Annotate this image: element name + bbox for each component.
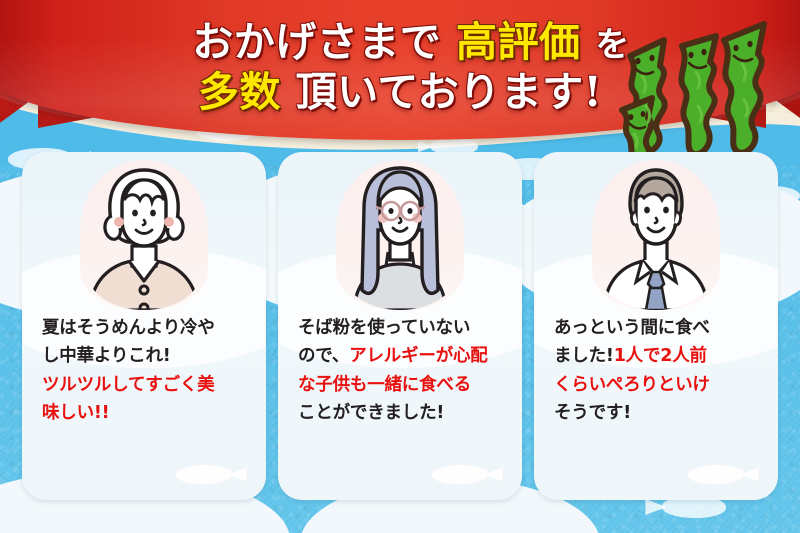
card-fish-icon xyxy=(176,465,232,484)
quote-emphasis: 1人で2人前 xyxy=(614,346,707,366)
quote-plain: ので、 xyxy=(298,346,349,366)
promo-banner: おかげさまで 高評価 を 多数 頂いております! xyxy=(0,0,800,533)
avatar xyxy=(74,160,214,310)
avatar xyxy=(330,160,470,310)
testimonial-card: そば粉を使っていない ので、アレルギーが心配 な子供も一緒に食べる ことができま… xyxy=(278,152,522,500)
quote-line: そうです! xyxy=(554,399,764,427)
avatar xyxy=(586,160,726,310)
headline-seg-yellow: 高評価 xyxy=(456,18,581,66)
quote-line-emphasis: な子供も一緒に食べる xyxy=(298,371,508,399)
testimonial-text: あっという間に食べ ました!1人で2人前 くらいぺろりといけ そうです! xyxy=(554,314,764,427)
quote-plain: ました! xyxy=(554,346,614,366)
testimonial-text: 夏はそうめんより冷や し中華よりこれ! ツルツルしてすごく美 味しい!! xyxy=(42,314,252,427)
testimonial-list: 夏はそうめんより冷や し中華よりこれ! ツルツルしてすごく美 味しい!! xyxy=(0,152,800,504)
quote-line-mixed: ました!1人で2人前 xyxy=(554,342,764,370)
seaweed-frond-right xyxy=(724,24,764,153)
quote-line-emphasis: 味しい!! xyxy=(42,399,252,427)
testimonial-text: そば粉を使っていない ので、アレルギーが心配 な子供も一緒に食べる ことができま… xyxy=(298,314,508,427)
testimonial-card: あっという間に食べ ました!1人で2人前 くらいぺろりといけ そうです! xyxy=(534,152,778,500)
card-fish-icon xyxy=(688,465,744,484)
testimonial-card: 夏はそうめんより冷や し中華よりこれ! ツルツルしてすごく美 味しい!! xyxy=(22,152,266,500)
headline-seg-yellow-2: 多数 xyxy=(198,68,281,116)
seaweed-frond-middle xyxy=(681,36,716,154)
quote-line: 夏はそうめんより冷や xyxy=(42,314,252,342)
quote-line-emphasis: ツルツルしてすごく美 xyxy=(42,371,252,399)
card-fish-icon xyxy=(432,465,488,484)
quote-line-emphasis: くらいぺろりといけ xyxy=(554,371,764,399)
headline-seg-white: おかげさまで xyxy=(192,18,441,66)
seaweed-mascot-group xyxy=(612,14,792,162)
quote-emphasis: アレルギーが心配 xyxy=(349,346,487,366)
headline-seg-white-2: 頂いております! xyxy=(296,68,603,116)
quote-line: ことができました! xyxy=(298,399,508,427)
quote-line: し中華よりこれ! xyxy=(42,342,252,370)
quote-line: そば粉を使っていない xyxy=(298,314,508,342)
quote-line: あっという間に食べ xyxy=(554,314,764,342)
quote-line-mixed: ので、アレルギーが心配 xyxy=(298,342,508,370)
